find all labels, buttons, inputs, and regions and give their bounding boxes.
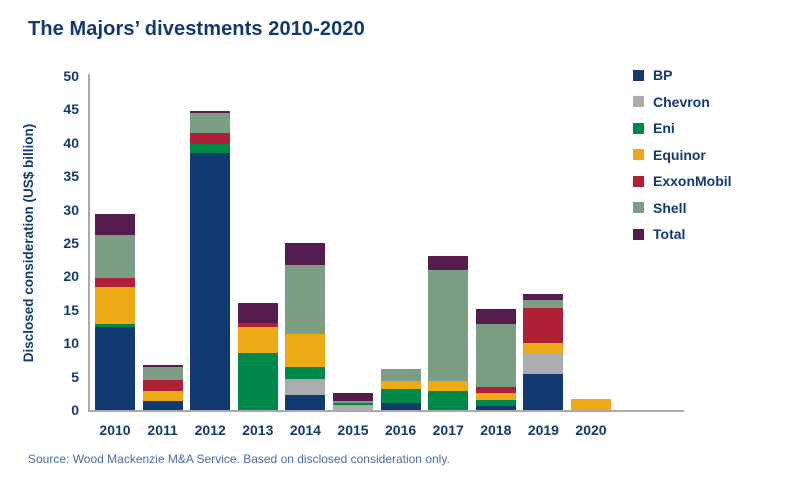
bar-group-2011[interactable]: 2011: [143, 76, 183, 410]
bar-segment-equinor[interactable]: [285, 334, 325, 367]
legend-item-bp[interactable]: BP: [633, 62, 793, 89]
bar-stack: [238, 303, 278, 410]
bar-stack: [476, 309, 516, 410]
x-axis-tick-label: 2011: [147, 422, 177, 438]
legend-swatch-icon: [633, 70, 644, 81]
source-note: Source: Wood Mackenzie M&A Service. Base…: [28, 452, 450, 466]
bar-segment-shell[interactable]: [95, 235, 135, 278]
bar-stack: [143, 365, 183, 410]
x-axis-line: [88, 410, 684, 412]
legend-label: Shell: [653, 200, 686, 216]
y-axis-tick-label: 0: [71, 402, 79, 418]
bar-group-2013[interactable]: 2013: [238, 76, 278, 410]
bar-segment-equinor[interactable]: [571, 399, 611, 410]
bar-stack: [95, 214, 135, 410]
y-axis-tick-label: 30: [63, 202, 79, 218]
legend-label: Equinor: [653, 147, 706, 163]
bar-group-2018[interactable]: 2018: [476, 76, 516, 410]
bar-segment-total[interactable]: [95, 214, 135, 235]
legend-label: Total: [653, 226, 685, 242]
bar-segment-total[interactable]: [285, 243, 325, 265]
bar-segment-equinor[interactable]: [428, 381, 468, 391]
bar-segment-shell[interactable]: [190, 113, 230, 133]
bar-segment-shell[interactable]: [476, 324, 516, 387]
y-axis-tick-label: 10: [63, 335, 79, 351]
page-title: The Majors’ divestments 2010-2020: [28, 18, 365, 41]
bar-segment-exxonmobil[interactable]: [95, 278, 135, 287]
bar-segment-eni[interactable]: [381, 389, 421, 402]
legend-label: Chevron: [653, 94, 710, 110]
bar-stack: [285, 243, 325, 410]
legend-item-chevron[interactable]: Chevron: [633, 89, 793, 116]
bar-segment-total[interactable]: [238, 303, 278, 323]
y-axis-tick-label: 25: [63, 235, 79, 251]
bar-stack: [428, 256, 468, 410]
bar-segment-total[interactable]: [333, 393, 373, 401]
x-axis-tick-label: 2016: [385, 422, 416, 438]
bar-segment-total[interactable]: [428, 256, 468, 269]
x-axis-tick-label: 2020: [575, 422, 606, 438]
bar-segment-eni[interactable]: [190, 144, 230, 153]
bar-segment-chevron[interactable]: [523, 353, 563, 374]
legend-label: ExxonMobil: [653, 173, 732, 189]
bar-segment-eni[interactable]: [428, 391, 468, 410]
bar-group-2020[interactable]: 2020: [571, 76, 611, 410]
y-axis-title: Disclosed consideration (US$ billion): [18, 76, 40, 410]
bar-segment-shell[interactable]: [523, 300, 563, 308]
legend: BPChevronEniEquinorExxonMobilShellTotal: [633, 62, 793, 248]
legend-swatch-icon: [633, 123, 644, 134]
bar-segment-equinor[interactable]: [476, 393, 516, 400]
legend-item-eni[interactable]: Eni: [633, 115, 793, 142]
bar-segment-shell[interactable]: [381, 369, 421, 381]
x-axis-tick-label: 2017: [433, 422, 464, 438]
bar-segment-bp[interactable]: [476, 406, 516, 410]
legend-swatch-icon: [633, 149, 644, 160]
y-axis-tick-label: 45: [63, 101, 79, 117]
legend-item-shell[interactable]: Shell: [633, 195, 793, 222]
x-axis-tick-label: 2012: [195, 422, 226, 438]
y-axis-tick-label: 50: [63, 68, 79, 84]
bar-stack: [381, 369, 421, 410]
bar-segment-total[interactable]: [476, 309, 516, 324]
legend-swatch-icon: [633, 202, 644, 213]
bar-segment-eni[interactable]: [238, 353, 278, 410]
bar-segment-chevron[interactable]: [285, 379, 325, 396]
bar-segment-shell[interactable]: [428, 270, 468, 382]
legend-item-exxonmobil[interactable]: ExxonMobil: [633, 168, 793, 195]
bar-segment-equinor[interactable]: [143, 391, 183, 401]
bar-group-2014[interactable]: 2014: [285, 76, 325, 410]
x-axis-tick-label: 2014: [290, 422, 321, 438]
bar-segment-bp[interactable]: [95, 327, 135, 411]
bar-segment-equinor[interactable]: [523, 343, 563, 353]
y-axis-tick-label: 20: [63, 268, 79, 284]
bar-stack: [523, 294, 563, 410]
x-axis-tick-label: 2015: [337, 422, 368, 438]
bar-segment-eni[interactable]: [285, 367, 325, 378]
y-axis-tick-label: 40: [63, 135, 79, 151]
bar-segment-bp[interactable]: [523, 374, 563, 410]
legend-swatch-icon: [633, 96, 644, 107]
legend-swatch-icon: [633, 229, 644, 240]
bar-segment-shell[interactable]: [143, 367, 183, 380]
chart-page: The Majors’ divestments 2010-2020 Disclo…: [0, 0, 800, 480]
x-axis-tick-label: 2013: [242, 422, 273, 438]
bar-segment-bp[interactable]: [143, 401, 183, 410]
bar-stack: [333, 393, 373, 410]
x-axis-tick-label: 2019: [528, 422, 559, 438]
bar-segment-bp[interactable]: [190, 153, 230, 410]
bar-segment-equinor[interactable]: [238, 327, 278, 354]
bar-group-2019[interactable]: 2019: [523, 76, 563, 410]
y-axis-tick-label: 5: [71, 369, 79, 385]
bar-segment-bp[interactable]: [285, 395, 325, 410]
bar-series-container: 2010201120122013201420152016201720182019…: [88, 76, 613, 410]
bar-segment-equinor[interactable]: [95, 287, 135, 324]
legend-label: BP: [653, 67, 672, 83]
bar-group-2016[interactable]: 2016: [381, 76, 421, 410]
bar-stack: [571, 399, 611, 410]
legend-label: Eni: [653, 120, 675, 136]
bar-segment-chevron[interactable]: [333, 405, 373, 410]
legend-item-equinor[interactable]: Equinor: [633, 142, 793, 169]
bar-group-2012[interactable]: 2012: [190, 76, 230, 410]
bar-group-2017[interactable]: 2017: [428, 76, 468, 410]
legend-swatch-icon: [633, 176, 644, 187]
bar-segment-bp[interactable]: [381, 403, 421, 410]
plot-area: 05101520253035404550 2010201120122013201…: [88, 76, 613, 410]
bar-group-2010[interactable]: 2010: [95, 76, 135, 410]
x-axis-tick-label: 2018: [480, 422, 511, 438]
y-axis-tick-label: 35: [63, 168, 79, 184]
y-axis-tick-label: 15: [63, 302, 79, 318]
bar-segment-exxonmobil[interactable]: [143, 380, 183, 391]
legend-item-total[interactable]: Total: [633, 221, 793, 248]
bar-segment-equinor[interactable]: [381, 381, 421, 390]
bar-stack: [190, 111, 230, 410]
bar-segment-shell[interactable]: [285, 265, 325, 334]
x-axis-tick-label: 2010: [99, 422, 130, 438]
bar-segment-exxonmobil[interactable]: [523, 308, 563, 343]
bar-segment-exxonmobil[interactable]: [190, 133, 230, 144]
bar-group-2015[interactable]: 2015: [333, 76, 373, 410]
